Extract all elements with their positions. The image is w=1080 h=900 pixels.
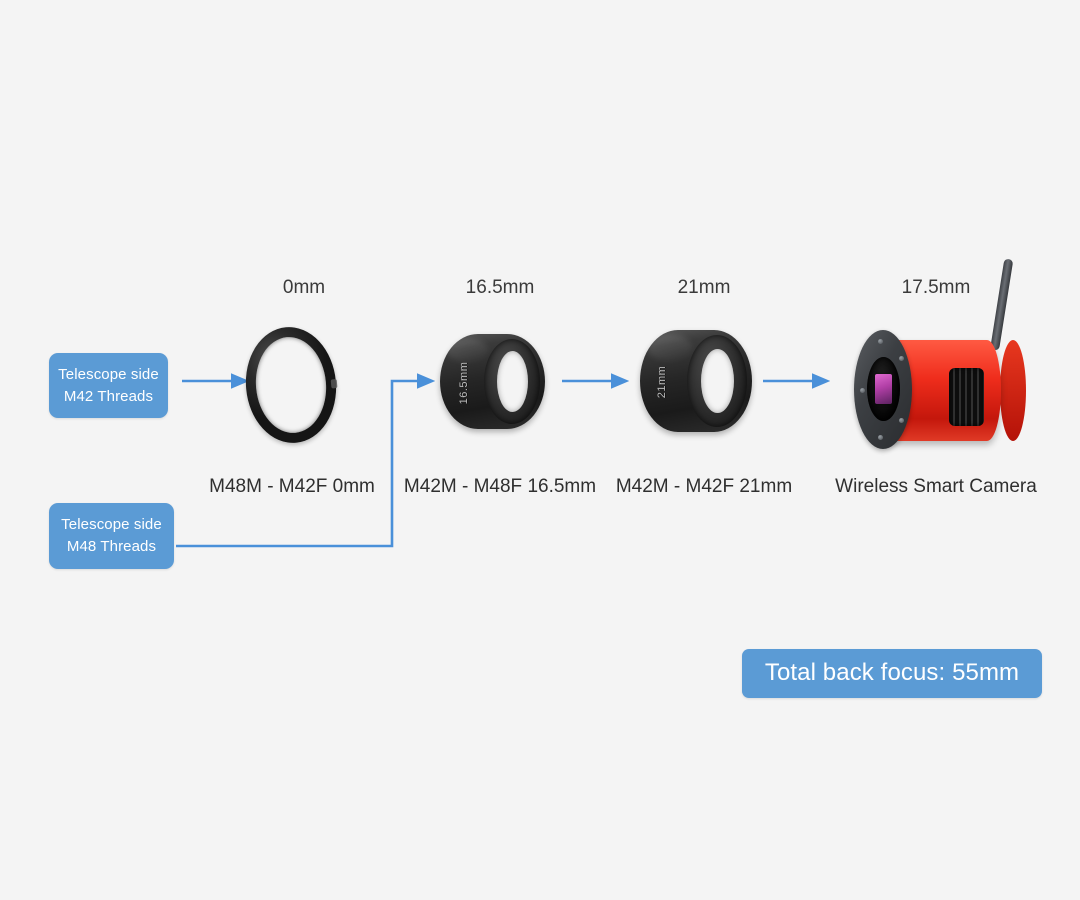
adapter-spacer-16-5mm[interactable]: 16.5mm	[440, 334, 545, 429]
total-back-focus-banner[interactable]: Total back focus: 55mm	[742, 649, 1042, 698]
m42-box-line1: Telescope side	[58, 364, 159, 386]
m48-box-line2: M48 Threads	[67, 536, 156, 558]
sensor-window-icon	[875, 374, 892, 404]
caption-ring3: M42M - M42F 21mm	[616, 476, 792, 498]
ring2-aperture	[497, 351, 528, 412]
camera-screw	[878, 339, 883, 344]
camera-rear-cap	[1000, 340, 1026, 441]
m42-box-line2: M42 Threads	[64, 386, 153, 408]
ring3-aperture	[701, 349, 734, 413]
measurement-ring1: 0mm	[283, 277, 325, 299]
ring2-engraving: 16.5mm	[458, 352, 470, 414]
total-back-focus-label: Total back focus: 55mm	[765, 656, 1019, 691]
telescope-side-m48-box[interactable]: Telescope side M48 Threads	[49, 503, 174, 569]
caption-camera: Wireless Smart Camera	[835, 476, 1037, 498]
camera-screw	[899, 356, 904, 361]
measurement-ring3: 21mm	[678, 277, 731, 299]
antenna-icon	[990, 258, 1013, 350]
measurement-ring2: 16.5mm	[466, 277, 535, 299]
adapter-ring-m48m-m42f[interactable]	[241, 323, 341, 446]
diagram-canvas: Telescope side M42 Threads Telescope sid…	[0, 0, 1080, 900]
caption-ring1: M48M - M42F 0mm	[209, 476, 375, 498]
m48-box-line1: Telescope side	[61, 514, 162, 536]
camera-screw	[878, 435, 883, 440]
camera-screw	[899, 418, 904, 423]
connector-lines	[0, 0, 1080, 900]
ring3-engraving: 21mm	[656, 351, 668, 413]
wireless-smart-camera[interactable]	[852, 258, 1017, 448]
telescope-side-m42-box[interactable]: Telescope side M42 Threads	[49, 353, 168, 418]
heat-vent-icon	[949, 368, 984, 426]
camera-screw	[860, 388, 865, 393]
caption-ring2: M42M - M48F 16.5mm	[404, 476, 596, 498]
camera-bore	[867, 357, 900, 421]
camera-front-plate	[854, 330, 912, 449]
adapter-spacer-21mm[interactable]: 21mm	[640, 330, 752, 432]
ring1-notch	[331, 379, 338, 388]
